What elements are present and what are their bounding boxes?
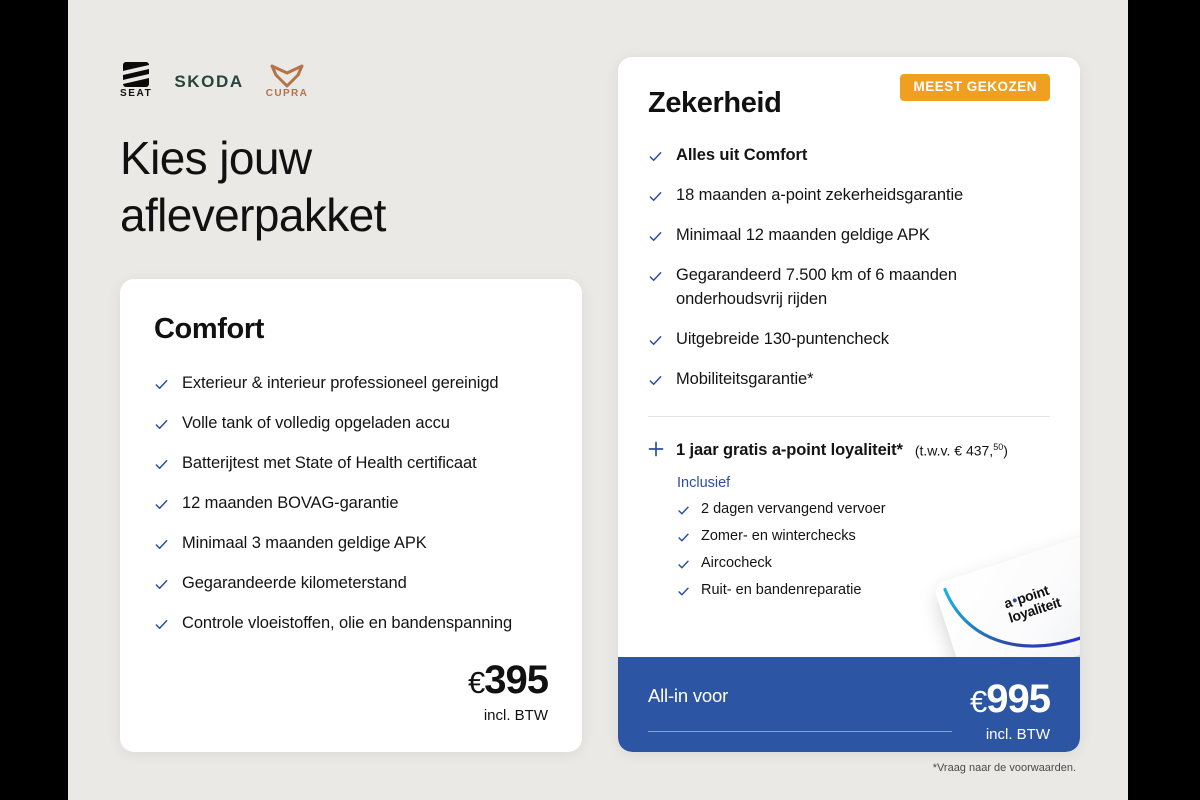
inclusief-label: Inclusief: [677, 475, 1050, 491]
comfort-price-amount: 395: [484, 658, 548, 702]
zekerheid-feature-list: Alles uit Comfort 18 maanden a-point zek…: [648, 144, 1050, 391]
list-item-label: Gegarandeerde kilometerstand: [182, 572, 407, 596]
list-item: Batterijtest met State of Health certifi…: [154, 452, 548, 476]
loyalty-value-cents: 50: [993, 442, 1003, 452]
list-item: Exterieur & interieur professioneel gere…: [154, 372, 548, 396]
check-icon: [154, 617, 169, 632]
zekerheid-price: €995: [970, 679, 1050, 719]
seat-logo-label: SEAT: [120, 89, 152, 99]
comfort-price-note: incl. BTW: [468, 707, 548, 724]
list-item: Aircocheck: [677, 554, 1050, 573]
list-item: Gegarandeerde kilometerstand: [154, 572, 548, 596]
list-item: Controle vloeistoffen, olie en bandenspa…: [154, 612, 548, 636]
loyalty-header: 1 jaar gratis a-point loyaliteit* (t.w.v…: [648, 439, 1050, 460]
list-item: Minimaal 3 maanden geldige APK: [154, 532, 548, 556]
check-icon: [154, 417, 169, 432]
check-icon: [677, 585, 690, 598]
cupra-logo-label: CUPRA: [266, 89, 309, 99]
list-item: Gegarandeerd 7.500 km of 6 maanden onder…: [648, 264, 1050, 312]
seat-logo-icon: [123, 62, 149, 87]
list-item-label: Aircocheck: [701, 554, 772, 573]
check-icon: [154, 537, 169, 552]
check-icon: [154, 457, 169, 472]
check-icon: [648, 149, 663, 164]
list-item-label: Controle vloeistoffen, olie en bandenspa…: [182, 612, 512, 636]
comfort-feature-list: Exterieur & interieur professioneel gere…: [154, 372, 548, 635]
seat-logo: SEAT: [120, 62, 152, 99]
list-item: Zomer- en winterchecks: [677, 527, 1050, 546]
check-icon: [677, 531, 690, 544]
footer-left: All-in voor: [648, 679, 970, 732]
package-card-comfort[interactable]: Comfort Exterieur & interieur profession…: [120, 279, 582, 752]
zekerheid-price-footer: All-in voor €995 incl. BTW: [618, 657, 1080, 752]
skoda-logo-label: SKODA: [174, 72, 243, 99]
check-icon: [677, 504, 690, 517]
check-icon: [648, 333, 663, 348]
check-icon: [677, 558, 690, 571]
list-item-label: Minimaal 3 maanden geldige APK: [182, 532, 427, 556]
list-item-label: Minimaal 12 maanden geldige APK: [676, 224, 930, 248]
loyalty-value-suffix: ): [1003, 442, 1008, 458]
list-item: Ruit- en bandenreparatie: [677, 581, 1050, 600]
letterbox-bar-right: [1128, 0, 1200, 800]
list-item-label: Batterijtest met State of Health certifi…: [182, 452, 477, 476]
list-item-label: Uitgebreide 130-puntencheck: [676, 328, 889, 352]
list-item-label: Volle tank of volledig opgeladen accu: [182, 412, 450, 436]
list-item: 2 dagen vervangend vervoer: [677, 500, 1050, 519]
check-icon: [648, 269, 663, 284]
brand-logo-row: SEAT SKODA CUPRA: [120, 55, 308, 99]
list-item: Minimaal 12 maanden geldige APK: [648, 224, 1050, 248]
package-card-zekerheid[interactable]: MEEST GEKOZEN Zekerheid Alles uit Comfor…: [618, 57, 1080, 752]
list-item-label: Zomer- en winterchecks: [701, 527, 856, 546]
comfort-card-title: Comfort: [154, 313, 548, 346]
status-badge: MEEST GEKOZEN: [900, 74, 1050, 101]
currency-symbol: €: [970, 684, 986, 719]
footnote: *Vraag naar de voorwaarden.: [933, 762, 1076, 774]
list-item-label: 18 maanden a-point zekerheidsgarantie: [676, 184, 963, 208]
check-icon: [154, 577, 169, 592]
check-icon: [648, 373, 663, 388]
zekerheid-price-amount: 995: [986, 677, 1050, 721]
comfort-price: €395: [468, 660, 548, 700]
list-item-label: Exterieur & interieur professioneel gere…: [182, 372, 499, 396]
cupra-logo-icon: [270, 64, 304, 88]
list-item-label: 12 maanden BOVAG-garantie: [182, 492, 398, 516]
all-in-label: All-in voor: [648, 685, 970, 707]
screenshot-stage: SEAT SKODA CUPRA Kies jouw afleverpakket…: [0, 0, 1200, 800]
list-item: Mobiliteitsgarantie*: [648, 368, 1050, 392]
loyalty-title: 1 jaar gratis a-point loyaliteit*: [676, 441, 903, 460]
zekerheid-price-note: incl. BTW: [970, 726, 1050, 743]
list-item-label: Mobiliteitsgarantie*: [676, 368, 813, 392]
loyalty-sub-feature-list: 2 dagen vervangend vervoer Zomer- en win…: [677, 500, 1050, 599]
plus-icon: [648, 441, 664, 457]
check-icon: [648, 229, 663, 244]
comfort-price-block: €395 incl. BTW: [468, 660, 548, 724]
check-icon: [154, 377, 169, 392]
letterbox-bar-left: [0, 0, 68, 800]
section-divider: [648, 416, 1050, 417]
page-canvas: SEAT SKODA CUPRA Kies jouw afleverpakket…: [68, 0, 1128, 800]
list-item-label: Ruit- en bandenreparatie: [701, 581, 861, 600]
list-item-label: 2 dagen vervangend vervoer: [701, 500, 886, 519]
footer-rule: [648, 731, 952, 732]
check-icon: [648, 189, 663, 204]
check-icon: [154, 497, 169, 512]
list-item: Uitgebreide 130-puntencheck: [648, 328, 1050, 352]
cupra-logo: CUPRA: [266, 64, 309, 99]
loyalty-value: (t.w.v. € 437,50): [915, 442, 1008, 459]
list-item: 12 maanden BOVAG-garantie: [154, 492, 548, 516]
currency-symbol: €: [468, 665, 484, 700]
loyalty-value-prefix: (t.w.v. € 437,: [915, 442, 993, 458]
footer-right: €995 incl. BTW: [970, 679, 1050, 743]
list-item: Alles uit Comfort: [648, 144, 1050, 168]
list-item-label: Gegarandeerd 7.500 km of 6 maanden onder…: [676, 264, 1050, 312]
page-title: Kies jouw afleverpakket: [120, 130, 550, 244]
list-item-label: Alles uit Comfort: [676, 144, 807, 168]
list-item: Volle tank of volledig opgeladen accu: [154, 412, 548, 436]
list-item: 18 maanden a-point zekerheidsgarantie: [648, 184, 1050, 208]
